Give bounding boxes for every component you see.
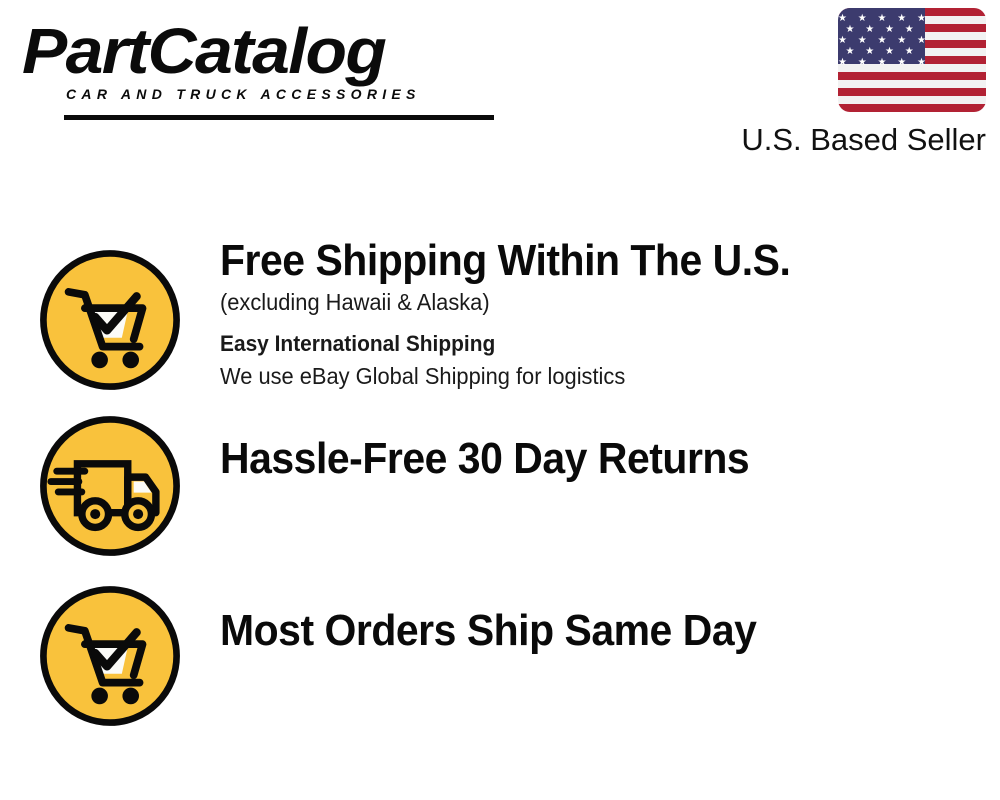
- feature-headline: Most Orders Ship Same Day: [220, 606, 945, 656]
- brand-wordmark: PartCatalog: [22, 18, 520, 84]
- flag-star-row: ★ ★ ★ ★ ★: [838, 14, 925, 24]
- seller-info-banner: PartCatalog CAR AND TRUCK ACCESSORIES ★ …: [0, 0, 1000, 800]
- feature-list: Free Shipping Within The U.S. (excluding…: [0, 232, 1000, 742]
- feature-icon-wrap: [0, 574, 220, 730]
- us-based-seller-label: U.S. Based Seller: [716, 123, 986, 157]
- brand-tagline: CAR AND TRUCK ACCESSORIES: [66, 86, 492, 102]
- feature-sub-title: Easy International Shipping: [220, 328, 961, 360]
- feature-icon-wrap: [0, 232, 220, 394]
- shopping-cart-check-icon: [36, 246, 184, 394]
- feature-text: Free Shipping Within The U.S. (excluding…: [220, 232, 1000, 392]
- flag-star-row: ★ ★ ★ ★: [838, 47, 925, 57]
- feature-icon-wrap: [0, 404, 220, 560]
- feature-text: Hassle-Free 30 Day Returns: [220, 404, 1000, 484]
- feature-headline: Hassle-Free 30 Day Returns: [220, 434, 945, 484]
- flag-star-row: ★ ★ ★ ★: [838, 25, 925, 35]
- feature-row: Free Shipping Within The U.S. (excluding…: [0, 232, 1000, 404]
- flag-star-row: ★ ★ ★ ★ ★: [838, 36, 925, 46]
- flag-star-row: ★ ★ ★ ★ ★: [838, 58, 925, 68]
- feature-text: Most Orders Ship Same Day: [220, 574, 1000, 656]
- delivery-truck-icon: [36, 412, 184, 560]
- us-flag-icon: ★ ★ ★ ★ ★ ★ ★ ★ ★ ★ ★ ★ ★ ★ ★ ★ ★ ★ ★ ★ …: [838, 8, 986, 112]
- brand-underline-swoosh: [64, 115, 494, 120]
- feature-row: Most Orders Ship Same Day: [0, 574, 1000, 742]
- feature-sub-body: We use eBay Global Shipping for logistic…: [220, 360, 961, 392]
- feature-sub-note: (excluding Hawaii & Alaska): [220, 286, 961, 318]
- us-based-seller-block: ★ ★ ★ ★ ★ ★ ★ ★ ★ ★ ★ ★ ★ ★ ★ ★ ★ ★ ★ ★ …: [716, 8, 986, 157]
- brand-logo: PartCatalog CAR AND TRUCK ACCESSORIES: [22, 18, 492, 118]
- shopping-cart-check-icon: [36, 582, 184, 730]
- feature-row: Hassle-Free 30 Day Returns: [0, 404, 1000, 574]
- feature-headline: Free Shipping Within The U.S.: [220, 236, 945, 286]
